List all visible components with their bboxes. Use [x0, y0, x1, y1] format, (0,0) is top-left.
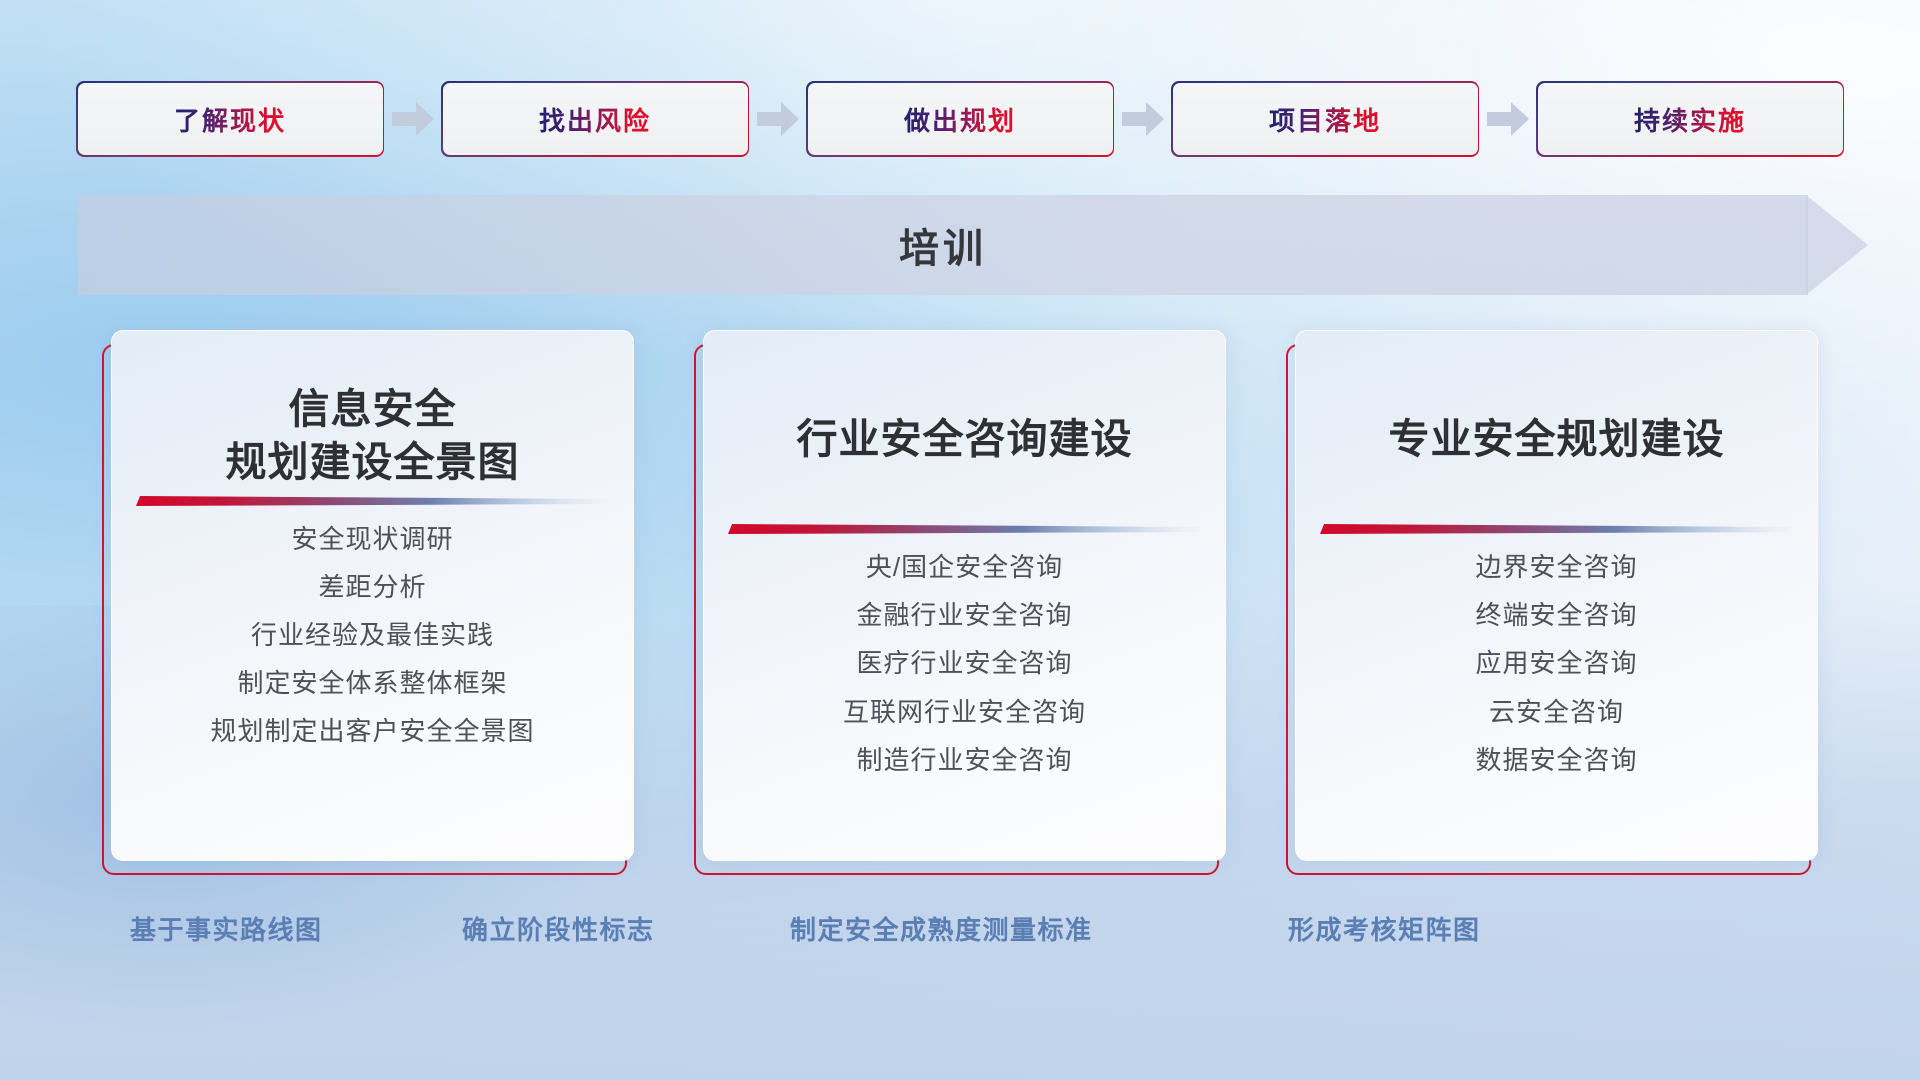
step-arrow-icon-1 [383, 83, 443, 155]
step-label-1: 了解现状 [174, 101, 286, 138]
card-title-line-2a: 行业安全咨询建设 [704, 413, 1225, 466]
list-item: 边界安全咨询 [1475, 550, 1637, 585]
list-item: 终端安全咨询 [1475, 598, 1637, 633]
card-title-line-1b: 规划建设全景图 [112, 436, 633, 489]
card-title-line-1a: 信息安全 [112, 383, 633, 436]
card-divider-1 [112, 490, 633, 512]
list-item: 行业经验及最佳实践 [251, 618, 494, 653]
list-item: 规划制定出客户安全全景图 [210, 714, 534, 749]
card-3[interactable]: 专业安全规划建设 [1295, 330, 1818, 861]
card-title-line-3a: 专业安全规划建设 [1296, 413, 1817, 466]
step-box-5[interactable]: 持续实施 [1538, 83, 1843, 155]
card-title-2: 行业安全咨询建设 [704, 331, 1225, 466]
training-banner: 培训 [78, 195, 1868, 295]
step-arrow-icon-3 [1113, 83, 1173, 155]
card-title-3: 专业安全规划建设 [1296, 331, 1817, 466]
step-label-4: 项目落地 [1269, 101, 1381, 138]
list-item: 差距分析 [318, 570, 426, 605]
list-item: 互联网行业安全咨询 [843, 695, 1086, 730]
step-box-1[interactable]: 了解现状 [78, 83, 383, 155]
footer-label-1: 基于事实路线图 [130, 910, 323, 947]
step-wrap-3: 做出规划 [808, 83, 1173, 155]
card-title-1: 信息安全 规划建设全景图 [112, 331, 633, 490]
step-wrap-4: 项目落地 [1173, 83, 1538, 155]
step-box-3[interactable]: 做出规划 [808, 83, 1113, 155]
process-step-row: 了解现状 找出风险 做出规划 项目落地 持续实施 [0, 78, 1920, 160]
card-divider-3 [1296, 518, 1817, 540]
card-2[interactable]: 行业安全咨询建设 [703, 330, 1226, 861]
step-label-2: 找出风险 [539, 101, 651, 138]
card-holder-1: 信息安全 规划建设全景图 [102, 330, 634, 875]
step-label-3: 做出规划 [904, 101, 1016, 138]
card-1[interactable]: 信息安全 规划建设全景图 [111, 330, 634, 861]
list-item: 安全现状调研 [291, 522, 453, 557]
list-item: 金融行业安全咨询 [856, 598, 1072, 633]
card-row: 信息安全 规划建设全景图 [0, 330, 1920, 890]
list-item: 制定安全体系整体框架 [237, 666, 507, 701]
card-list-1: 安全现状调研 差距分析 行业经验及最佳实践 制定安全体系整体框架 规划制定出客户… [112, 522, 633, 749]
step-wrap-2: 找出风险 [443, 83, 808, 155]
footer-label-4: 形成考核矩阵图 [1288, 910, 1481, 947]
step-box-2[interactable]: 找出风险 [443, 83, 748, 155]
list-item: 央/国企安全咨询 [866, 550, 1063, 585]
training-banner-arrow-icon [1806, 195, 1868, 295]
list-item: 制造行业安全咨询 [856, 743, 1072, 778]
list-item: 医疗行业安全咨询 [856, 646, 1072, 681]
step-wrap-5: 持续实施 [1538, 83, 1843, 155]
step-label-5: 持续实施 [1634, 101, 1746, 138]
step-arrow-icon-4 [1478, 83, 1538, 155]
step-box-4[interactable]: 项目落地 [1173, 83, 1478, 155]
footer-label-row: 基于事实路线图 确立阶段性标志 制定安全成熟度测量标准 形成考核矩阵图 [0, 910, 1920, 970]
step-arrow-icon-2 [748, 83, 808, 155]
card-divider-2 [704, 518, 1225, 540]
card-list-2: 央/国企安全咨询 金融行业安全咨询 医疗行业安全咨询 互联网行业安全咨询 制造行… [704, 550, 1225, 777]
list-item: 数据安全咨询 [1475, 743, 1637, 778]
list-item: 应用安全咨询 [1475, 646, 1637, 681]
card-holder-2: 行业安全咨询建设 [694, 330, 1226, 875]
step-wrap-1: 了解现状 [78, 83, 443, 155]
card-holder-3: 专业安全规划建设 [1286, 330, 1818, 875]
training-banner-title: 培训 [78, 195, 1808, 295]
card-list-3: 边界安全咨询 终端安全咨询 应用安全咨询 云安全咨询 数据安全咨询 [1296, 550, 1817, 777]
footer-label-2: 确立阶段性标志 [462, 910, 655, 947]
footer-label-3: 制定安全成熟度测量标准 [790, 910, 1093, 947]
list-item: 云安全咨询 [1489, 695, 1624, 730]
